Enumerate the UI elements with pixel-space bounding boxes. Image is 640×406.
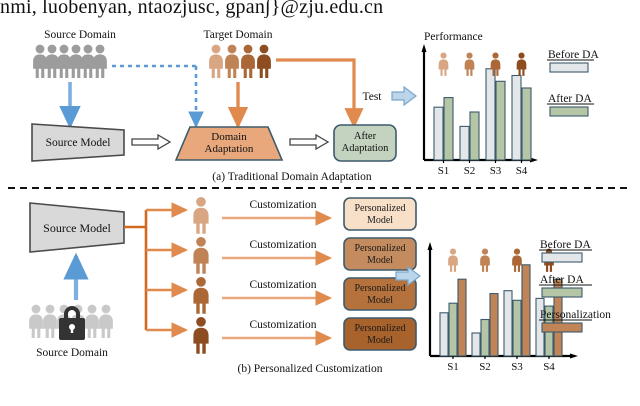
legend-label-after-da: After DA bbox=[548, 93, 592, 105]
tick-label-S2: S2 bbox=[479, 361, 491, 373]
legend-label-before-da: Before DA bbox=[540, 239, 591, 251]
chart-a-bars bbox=[434, 69, 531, 160]
personalized-model-label-line1-1: Personalized bbox=[354, 203, 405, 214]
legend-swatch-personalization bbox=[542, 323, 582, 332]
chart-b-person-icons bbox=[448, 249, 554, 272]
customization-label-2: Customization bbox=[249, 239, 316, 251]
source-model-label-b: Source Model bbox=[43, 221, 111, 235]
target-domain-people-group-a bbox=[209, 45, 271, 78]
panel-b-row-1: CustomizationPersonalizedModel bbox=[193, 197, 416, 234]
chart-a-ylabel: Performance bbox=[424, 31, 483, 43]
source-model-box-a[interactable]: Source Model bbox=[32, 124, 124, 161]
bar-S1-before-da bbox=[434, 107, 443, 160]
source-domain-people-group-b: Source Domain bbox=[29, 305, 113, 359]
chart-a: Performance S1S2S3S4 Before DAAfter DA bbox=[422, 31, 600, 177]
tick-label-S1: S1 bbox=[447, 361, 459, 373]
personalized-model-label-line2-2: Model bbox=[367, 255, 393, 266]
legend-label-before-da: Before DA bbox=[548, 49, 599, 61]
chart-b: S1S2S3S4 Before DAAfter DAPersonalizatio… bbox=[428, 239, 612, 373]
personalized-model-label-line2-3: Model bbox=[367, 295, 393, 306]
domain-adaptation-label-line1-a: Domain bbox=[211, 131, 247, 143]
panel-a-caption: (a) Traditional Domain Adaptation bbox=[212, 171, 372, 183]
panel-b-row-4: CustomizationPersonalizedModel bbox=[193, 317, 416, 354]
personalized-model-label-line2-4: Model bbox=[367, 335, 393, 346]
customization-person-icon-1 bbox=[193, 197, 208, 234]
personalized-model-label-line1-2: Personalized bbox=[354, 243, 405, 254]
chart-person-icon-S4 bbox=[517, 53, 527, 76]
gray-arrow-1-a bbox=[132, 135, 170, 149]
chart-b-x-axis-arrow bbox=[570, 354, 578, 359]
chart-person-icon-S3 bbox=[512, 249, 522, 272]
chart-a-person-icons bbox=[439, 53, 527, 76]
tick-label-S4: S4 bbox=[516, 165, 528, 177]
customization-person-icon-2 bbox=[193, 237, 208, 274]
panel-a-source-domain-label: Source Domain bbox=[44, 29, 116, 41]
test-label-a: Test bbox=[363, 91, 383, 103]
legend-swatch-after-da bbox=[550, 107, 588, 116]
chart-a-tick-labels: S1S2S3S4 bbox=[438, 160, 528, 177]
bar-S3-after-da bbox=[513, 300, 521, 356]
chart-a-y-axis-arrow bbox=[422, 44, 427, 52]
legend-label-after-da: After DA bbox=[540, 274, 584, 286]
tick-label-S3: S3 bbox=[511, 361, 523, 373]
legend-swatch-before-da bbox=[550, 63, 588, 72]
tick-label-S4: S4 bbox=[543, 361, 555, 373]
chart-person-icon-S2 bbox=[480, 249, 490, 272]
after-adaptation-label-line2-a: Adaptation bbox=[342, 143, 389, 154]
bar-S3-before-da bbox=[504, 291, 512, 356]
chart-person-icon-S1 bbox=[439, 53, 449, 76]
bar-S4-before-da bbox=[512, 76, 521, 161]
customization-label-3: Customization bbox=[249, 279, 316, 291]
bar-S2-after-da bbox=[481, 320, 489, 357]
bar-S4-after-da bbox=[522, 88, 531, 160]
source-domain-label-b: Source Domain bbox=[36, 347, 108, 359]
chart-b-tick-labels: S1S2S3S4 bbox=[447, 356, 555, 373]
tick-label-S1: S1 bbox=[438, 165, 450, 177]
test-block-arrow-a bbox=[392, 87, 416, 105]
orange-fanout-branches-b bbox=[146, 210, 186, 330]
chart-b-y-axis-arrow bbox=[428, 242, 433, 250]
legend-swatch-before-da bbox=[542, 253, 582, 262]
source-model-box-b[interactable]: Source Model bbox=[30, 203, 124, 252]
chart-person-icon-S1 bbox=[448, 249, 458, 272]
legend-swatch-after-da bbox=[542, 288, 582, 297]
customization-person-icon-3 bbox=[193, 277, 208, 314]
source-model-label-a: Source Model bbox=[46, 137, 111, 149]
chart-b-legend: Before DAAfter DAPersonalization bbox=[539, 239, 611, 332]
orange-test-path-a bbox=[276, 60, 354, 126]
bar-S2-before-da bbox=[460, 126, 469, 160]
panel-b-caption: (b) Personalized Customization bbox=[238, 363, 383, 375]
personalized-model-label-line2-1: Model bbox=[367, 215, 393, 226]
bar-S2-before-da bbox=[472, 333, 480, 356]
chart-person-icon-S2 bbox=[465, 53, 475, 76]
customization-label-1: Customization bbox=[249, 199, 316, 211]
bar-S1-after-da bbox=[444, 98, 453, 160]
orange-fanout-b bbox=[124, 210, 146, 330]
panel-b-row-2: CustomizationPersonalizedModel bbox=[193, 237, 416, 274]
after-adaptation-box-a[interactable]: After Adaptation bbox=[334, 125, 396, 161]
bar-S1-after-da bbox=[449, 303, 457, 356]
dotted-blue-connector-a bbox=[112, 66, 196, 126]
legend-label-personalization: Personalization bbox=[540, 309, 611, 321]
gray-arrow-2-a bbox=[290, 135, 328, 149]
bar-S3-before-da bbox=[486, 69, 495, 160]
bar-S3-after-da bbox=[496, 81, 505, 160]
bar-S2-personalization bbox=[490, 294, 498, 356]
bar-S1-before-da bbox=[440, 313, 448, 356]
domain-adaptation-label-line2-a: Adaptation bbox=[205, 143, 254, 155]
panel-a-target-domain-label: Target Domain bbox=[204, 29, 273, 41]
domain-adaptation-box-a[interactable]: Domain Adaptation bbox=[176, 127, 282, 160]
tick-label-S2: S2 bbox=[464, 165, 476, 177]
panel-b: Source Model Source Domain bbox=[29, 197, 611, 375]
after-adaptation-label-line1-a: After bbox=[354, 131, 377, 142]
bar-S3-personalization bbox=[522, 265, 530, 356]
panel-b-rows: CustomizationPersonalizedModelCustomizat… bbox=[193, 197, 416, 354]
panel-a: Source Domain Target Domain bbox=[32, 29, 599, 183]
panel-b-row-3: CustomizationPersonalizedModel bbox=[193, 277, 416, 314]
customization-person-icon-4 bbox=[193, 317, 208, 354]
tick-label-S3: S3 bbox=[490, 165, 502, 177]
bar-S1-personalization bbox=[458, 279, 466, 356]
personalized-model-label-line1-3: Personalized bbox=[354, 283, 405, 294]
chart-a-legend: Before DAAfter DA bbox=[547, 49, 599, 116]
customization-label-4: Customization bbox=[249, 319, 316, 331]
figure-canvas: Source Domain Target Domain bbox=[0, 0, 640, 406]
personalized-model-label-line1-4: Personalized bbox=[354, 323, 405, 334]
source-domain-people-group-a bbox=[33, 45, 107, 78]
bar-S2-after-da bbox=[470, 112, 479, 160]
